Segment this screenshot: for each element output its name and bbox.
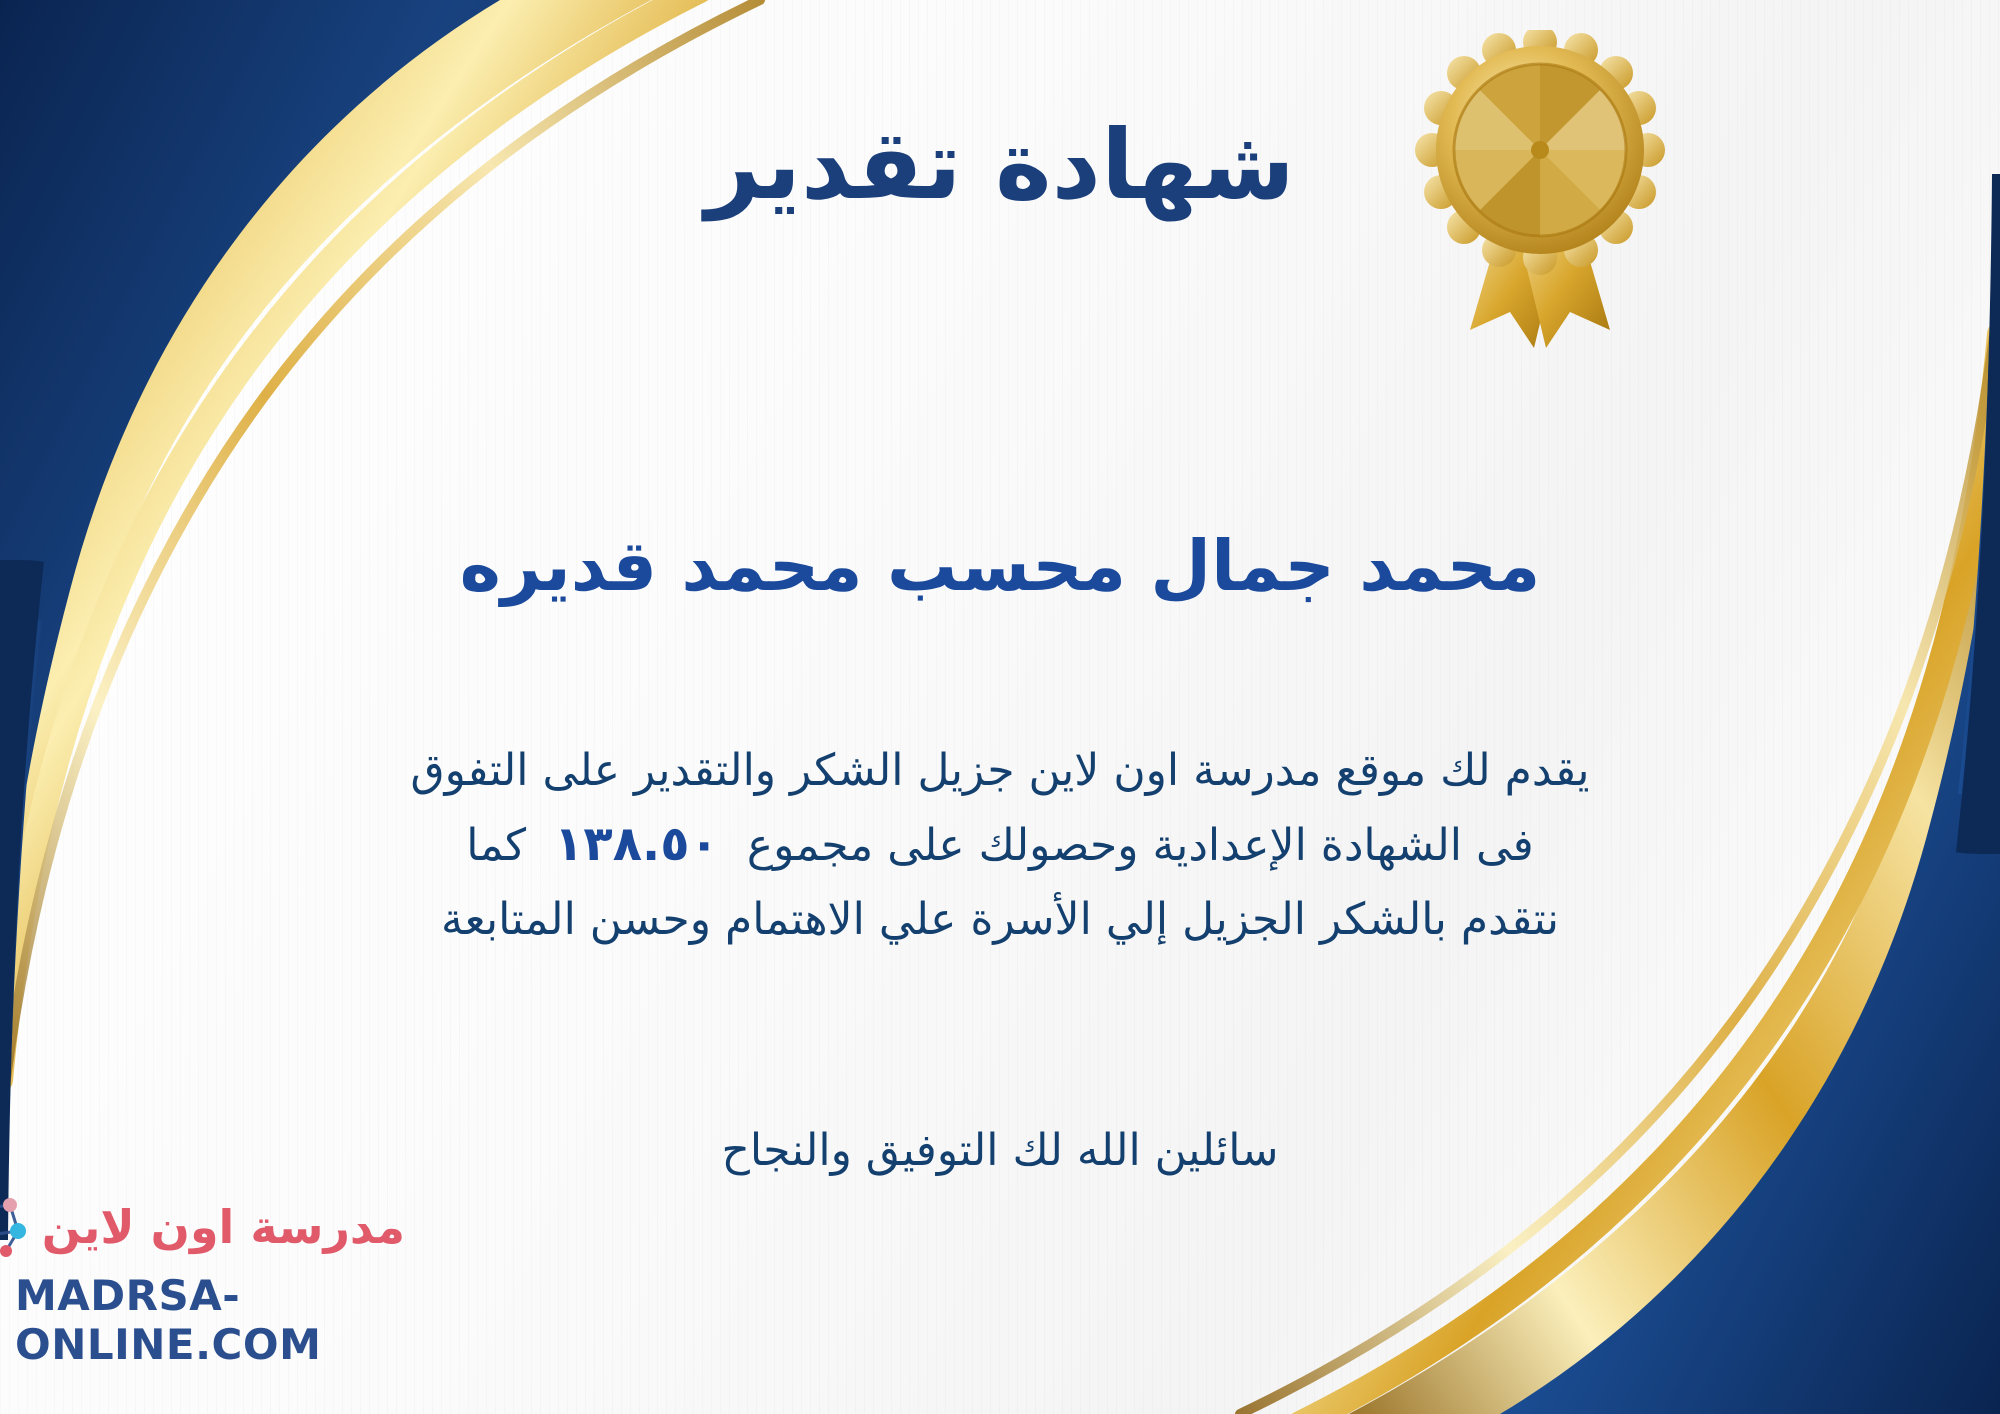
brand-arabic-name: مدرسة اون لاين (42, 1204, 405, 1250)
network-nodes-icon (0, 1191, 32, 1263)
recipient-name: محمد جمال محسب محمد قديره (0, 525, 2000, 607)
body-line-2-after: كما (466, 820, 526, 871)
body-line-2: فى الشهادة الإعدادية وحصولك على مجموع ١٣… (230, 806, 1770, 884)
brand-logo[interactable]: مدرسة اون لاين (15, 1191, 405, 1369)
body-line-1: يقدم لك موقع مدرسة اون لاين جزيل الشكر و… (230, 735, 1770, 806)
brand-website[interactable]: MADRSA-ONLINE.COM (15, 1271, 405, 1369)
score-value: ١٣٨.٥٠ (540, 816, 733, 872)
closing-line: سائلين الله لك التوفيق والنجاح (0, 1125, 2000, 1176)
page-title: شهادة تقدير (0, 115, 2000, 216)
certificate-canvas: شهادة تقدير محمد جمال محسب محمد قديره يق… (0, 0, 2000, 1414)
certificate-body: يقدم لك موقع مدرسة اون لاين جزيل الشكر و… (230, 735, 1770, 955)
body-line-2-before: فى الشهادة الإعدادية وحصولك على مجموع (747, 820, 1534, 871)
brand-row: مدرسة اون لاين (15, 1191, 405, 1263)
body-line-3: نتقدم بالشكر الجزيل إلي الأسرة علي الاهت… (230, 884, 1770, 955)
